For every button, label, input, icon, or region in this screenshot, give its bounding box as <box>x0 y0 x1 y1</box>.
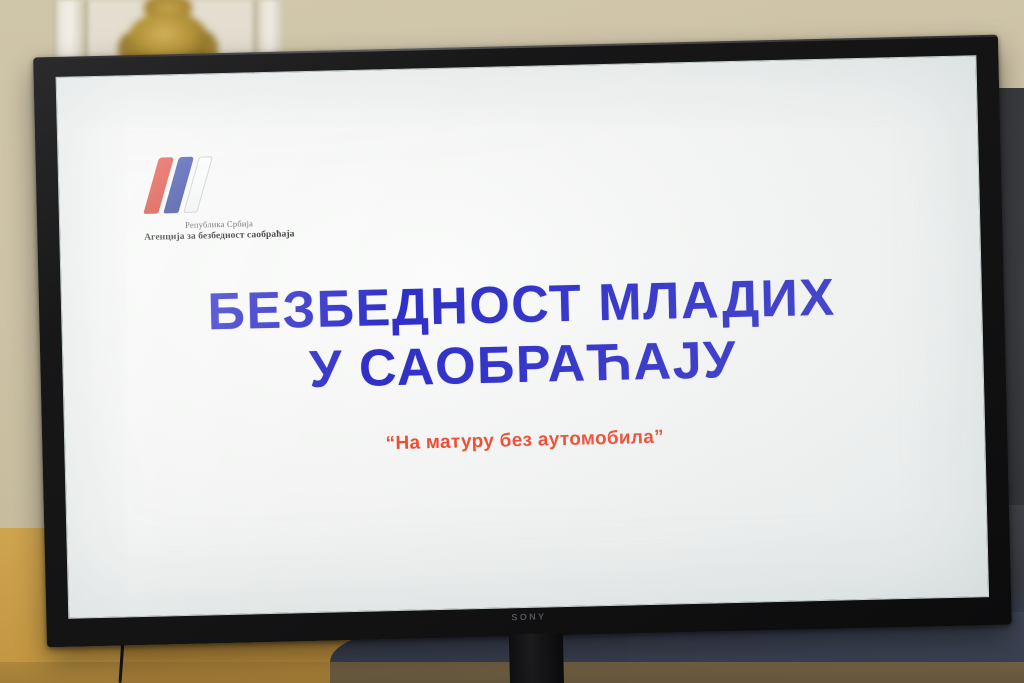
agency-logo-block: Република Србија Агенција за безбедност … <box>102 149 334 243</box>
serbia-road-safety-emblem-icon <box>148 152 227 214</box>
slide-subtitle: “На матуру без аутомобила” <box>65 419 984 463</box>
television: SONY Република Србија Агенција за безбед… <box>33 35 1012 654</box>
room-scene: SONY Република Србија Агенција за безбед… <box>0 0 1024 683</box>
tv-stand <box>509 633 564 683</box>
presentation-slide: Република Србија Агенција за безбедност … <box>57 56 988 618</box>
tv-brand-logo: SONY <box>511 612 546 623</box>
tv-screen: Република Србија Агенција за безбедност … <box>56 55 990 619</box>
slide-title-block: БЕЗБЕДНОСТ МЛАДИХ У САОБРАЋАЈУ “На матур… <box>62 264 985 462</box>
